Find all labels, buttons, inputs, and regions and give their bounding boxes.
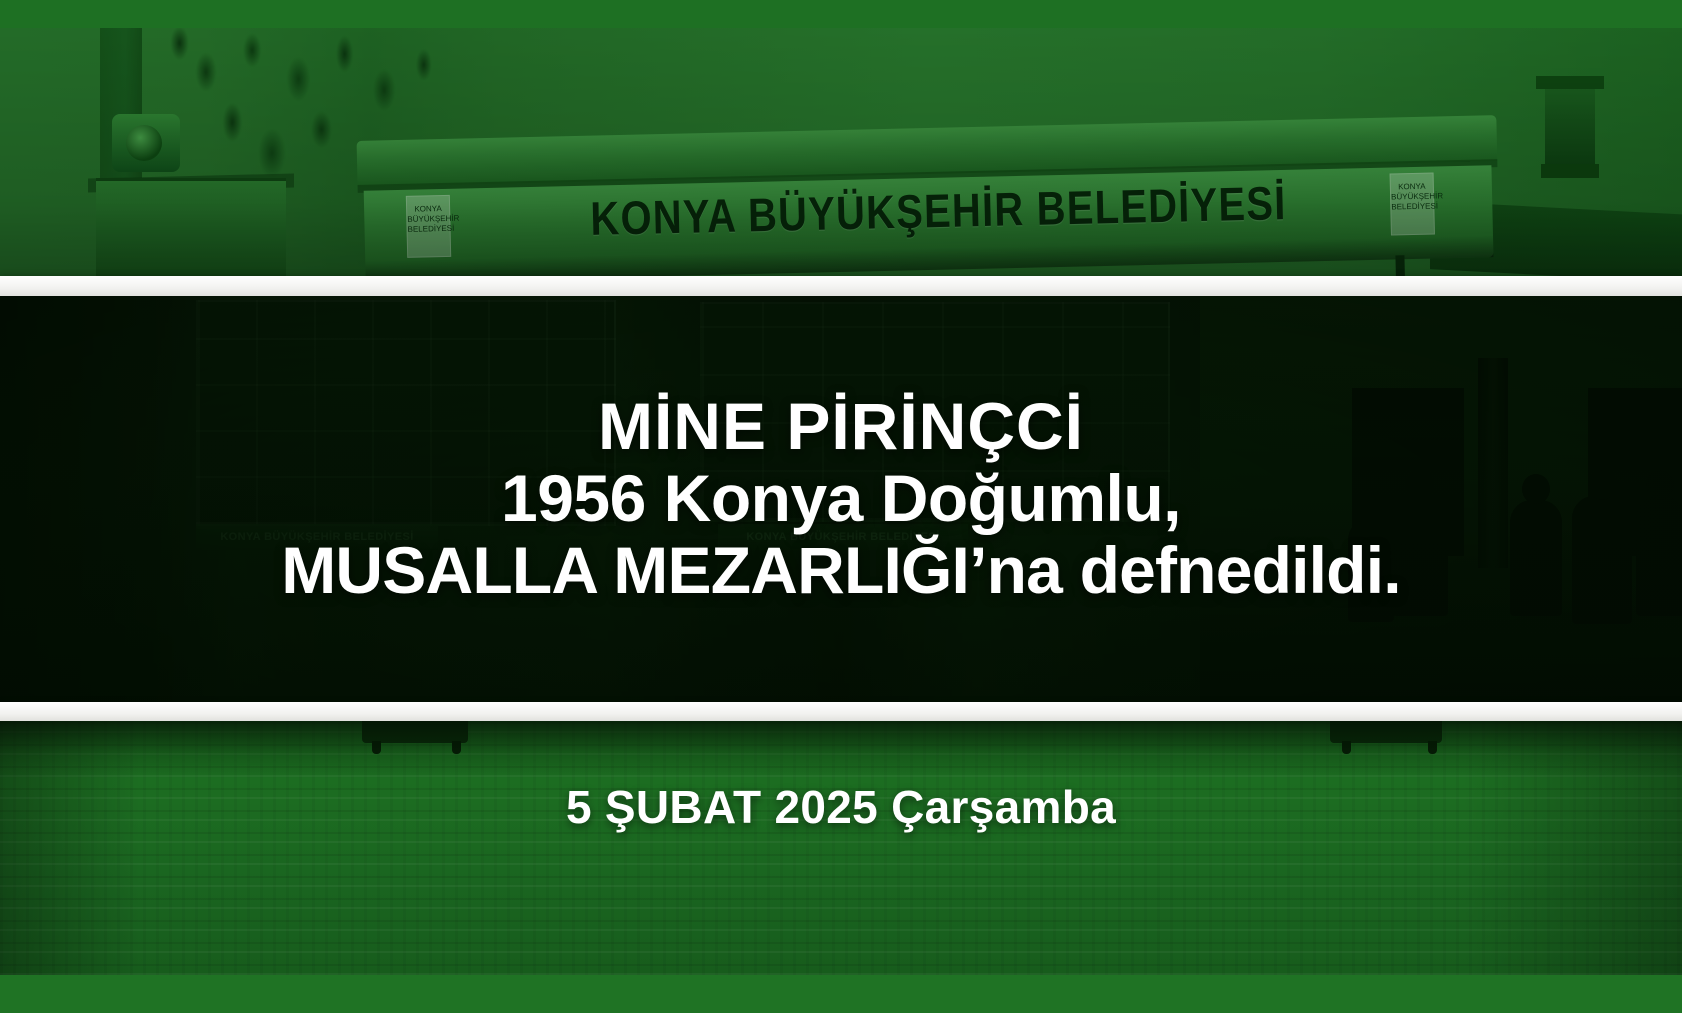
divider-bottom <box>0 702 1682 721</box>
memorial-poster: KONYA BÜYÜKŞEHİR BELEDİYESİ KONYA BÜYÜKŞ… <box>0 0 1682 1013</box>
headline-line-name: MİNE PİRİNÇCİ <box>598 392 1084 462</box>
header-photo-band: KONYA BÜYÜKŞEHİR BELEDİYESİ KONYA BÜYÜKŞ… <box>0 28 1682 276</box>
top-accent-strip <box>0 0 1682 28</box>
bottom-accent-strip <box>0 975 1682 1013</box>
funeral-date: 5 ŞUBAT 2025 Çarşamba <box>0 780 1682 834</box>
footer-top-shadow <box>0 721 1682 779</box>
header-vignette <box>0 28 1682 276</box>
footer-left-shadow <box>0 721 140 975</box>
footer-right-shadow <box>1462 721 1682 975</box>
headline-block: MİNE PİRİNÇCİ 1956 Konya Doğumlu, MUSALL… <box>0 296 1682 702</box>
headline-line-birth: 1956 Konya Doğumlu, <box>501 464 1181 534</box>
divider-top <box>0 276 1682 296</box>
headline-line-burial: MUSALLA MEZARLIĞI’na defnedildi. <box>281 536 1401 606</box>
footer-carpet-band <box>0 721 1682 975</box>
